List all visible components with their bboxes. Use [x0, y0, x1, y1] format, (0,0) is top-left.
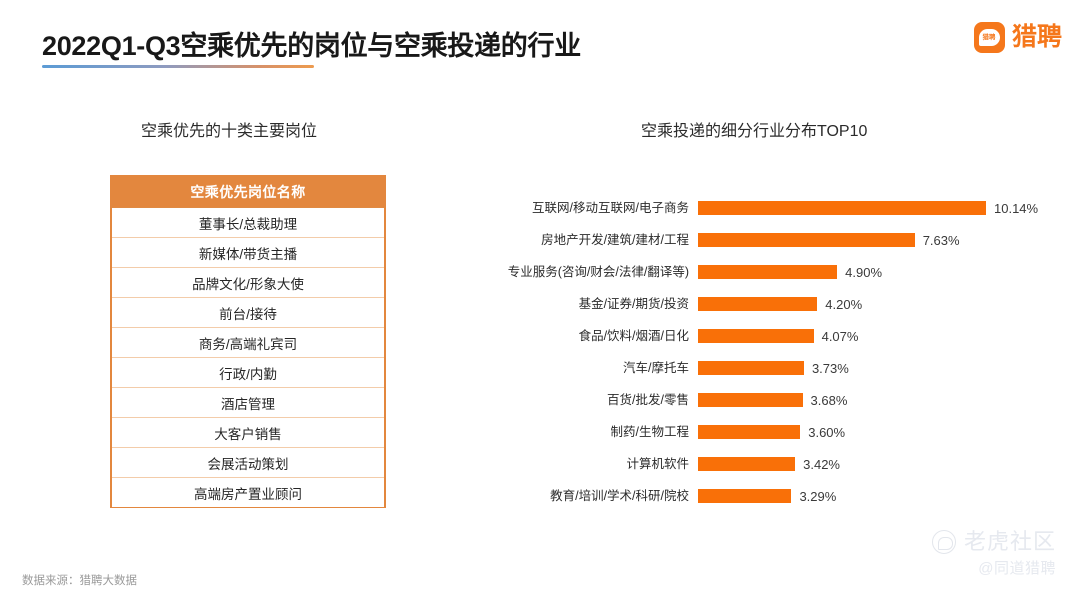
- page-title: 2022Q1-Q3空乘优先的岗位与空乘投递的行业: [42, 24, 581, 63]
- table-cell-position-name: 品牌文化/形象大使: [192, 273, 304, 293]
- chart-bar-container: 7.63%: [698, 233, 1060, 247]
- table-row: 行政/内勤: [112, 357, 384, 387]
- chart-row: 教育/培训/学术/科研/院校3.29%: [500, 480, 1060, 512]
- chart-bar: [698, 265, 837, 279]
- data-source-note: 数据来源：猎聘大数据: [22, 572, 137, 588]
- chart-category-label: 食品/饮料/烟酒/日化: [500, 330, 698, 343]
- chart-bar-container: 4.07%: [698, 329, 1060, 343]
- chart-bar-container: 3.29%: [698, 489, 1060, 503]
- table-row: 董事长/总裁助理: [112, 207, 384, 237]
- table-row: 前台/接待: [112, 297, 384, 327]
- chart-bar-container: 3.68%: [698, 393, 1060, 407]
- table-row: 大客户销售: [112, 417, 384, 447]
- industry-distribution-bar-chart: 互联网/移动互联网/电子商务10.14%房地产开发/建筑/建材/工程7.63%专…: [500, 192, 1060, 512]
- title-underline-accent: [42, 65, 314, 68]
- chart-value-label: 3.60%: [800, 426, 845, 439]
- brand-logo: 猎聘 猎聘: [974, 22, 1062, 53]
- chart-value-label: 7.63%: [915, 234, 960, 247]
- chart-row: 互联网/移动互联网/电子商务10.14%: [500, 192, 1060, 224]
- chart-row: 房地产开发/建筑/建材/工程7.63%: [500, 224, 1060, 256]
- chart-value-label: 3.68%: [803, 394, 848, 407]
- table-cell-position-name: 商务/高端礼宾司: [199, 333, 297, 353]
- job-positions-table: 空乘优先岗位名称 董事长/总裁助理新媒体/带货主播品牌文化/形象大使前台/接待商…: [110, 175, 386, 508]
- chart-bar: [698, 425, 800, 439]
- chart-row: 制药/生物工程3.60%: [500, 416, 1060, 448]
- chart-category-label: 教育/培训/学术/科研/院校: [500, 490, 698, 503]
- chart-category-label: 制药/生物工程: [500, 426, 698, 439]
- chart-bar: [698, 457, 795, 471]
- brand-wordmark: 猎聘: [1012, 25, 1062, 50]
- table-cell-position-name: 新媒体/带货主播: [199, 243, 297, 263]
- table-cell-position-name: 酒店管理: [221, 393, 275, 413]
- chart-category-label: 专业服务(咨询/财会/法律/翻译等): [500, 266, 698, 279]
- chart-row: 百货/批发/零售3.68%: [500, 384, 1060, 416]
- left-section-heading: 空乘优先的十类主要岗位: [141, 117, 317, 141]
- chart-bar: [698, 233, 915, 247]
- table-body: 董事长/总裁助理新媒体/带货主播品牌文化/形象大使前台/接待商务/高端礼宾司行政…: [112, 207, 384, 507]
- table-cell-position-name: 前台/接待: [219, 303, 277, 323]
- chart-category-label: 互联网/移动互联网/电子商务: [500, 202, 698, 215]
- chart-bar-container: 3.73%: [698, 361, 1060, 375]
- chart-value-label: 4.20%: [817, 298, 862, 311]
- chart-bar: [698, 201, 986, 215]
- chart-row: 专业服务(咨询/财会/法律/翻译等)4.90%: [500, 256, 1060, 288]
- chart-category-label: 汽车/摩托车: [500, 362, 698, 375]
- chart-bar: [698, 329, 814, 343]
- table-row: 会展活动策划: [112, 447, 384, 477]
- table-row: 酒店管理: [112, 387, 384, 417]
- table-row: 高端房产置业顾问: [112, 477, 384, 507]
- chart-row: 基金/证券/期货/投资4.20%: [500, 288, 1060, 320]
- chart-row: 汽车/摩托车3.73%: [500, 352, 1060, 384]
- table-cell-position-name: 董事长/总裁助理: [199, 213, 297, 233]
- chart-bar: [698, 393, 803, 407]
- speech-bubble-icon: 猎聘: [979, 29, 1000, 46]
- table-cell-position-name: 行政/内勤: [219, 363, 277, 383]
- chart-value-label: 10.14%: [986, 202, 1038, 215]
- chart-value-label: 3.42%: [795, 458, 840, 471]
- chart-bar-container: 4.90%: [698, 265, 1060, 279]
- chart-category-label: 房地产开发/建筑/建材/工程: [500, 234, 698, 247]
- chart-bar-container: 3.42%: [698, 457, 1060, 471]
- chart-bar: [698, 297, 817, 311]
- chart-bar: [698, 489, 791, 503]
- table-cell-position-name: 高端房产置业顾问: [194, 483, 302, 503]
- brand-bubble-label: 猎聘: [983, 34, 996, 40]
- chart-bar-container: 10.14%: [698, 201, 1060, 215]
- table-row: 商务/高端礼宾司: [112, 327, 384, 357]
- liepin-logo-icon: 猎聘: [974, 22, 1005, 53]
- table-header-cell: 空乘优先岗位名称: [112, 176, 384, 207]
- slide-canvas: 2022Q1-Q3空乘优先的岗位与空乘投递的行业 猎聘 猎聘 空乘优先的十类主要…: [0, 0, 1080, 608]
- chart-category-label: 基金/证券/期货/投资: [500, 298, 698, 311]
- tiger-community-icon: [932, 530, 956, 554]
- table-row: 新媒体/带货主播: [112, 237, 384, 267]
- chart-value-label: 3.29%: [791, 490, 836, 503]
- table-cell-position-name: 大客户销售: [214, 423, 282, 443]
- chart-value-label: 3.73%: [804, 362, 849, 375]
- watermark-main-line: 老虎社区: [932, 530, 1056, 554]
- chart-row: 计算机软件3.42%: [500, 448, 1060, 480]
- chart-value-label: 4.90%: [837, 266, 882, 279]
- chart-row: 食品/饮料/烟酒/日化4.07%: [500, 320, 1060, 352]
- right-section-heading: 空乘投递的细分行业分布TOP10: [641, 117, 867, 141]
- watermark-brand-label: 老虎社区: [964, 531, 1056, 553]
- chart-category-label: 计算机软件: [500, 458, 698, 471]
- watermark-handle-label: @同道猎聘: [932, 561, 1056, 576]
- chart-bar-container: 4.20%: [698, 297, 1060, 311]
- chart-category-label: 百货/批发/零售: [500, 394, 698, 407]
- chart-value-label: 4.07%: [814, 330, 859, 343]
- chart-bar-container: 3.60%: [698, 425, 1060, 439]
- chart-bar: [698, 361, 804, 375]
- table-cell-position-name: 会展活动策划: [208, 453, 289, 473]
- watermark: 老虎社区 @同道猎聘: [932, 530, 1056, 576]
- table-row: 品牌文化/形象大使: [112, 267, 384, 297]
